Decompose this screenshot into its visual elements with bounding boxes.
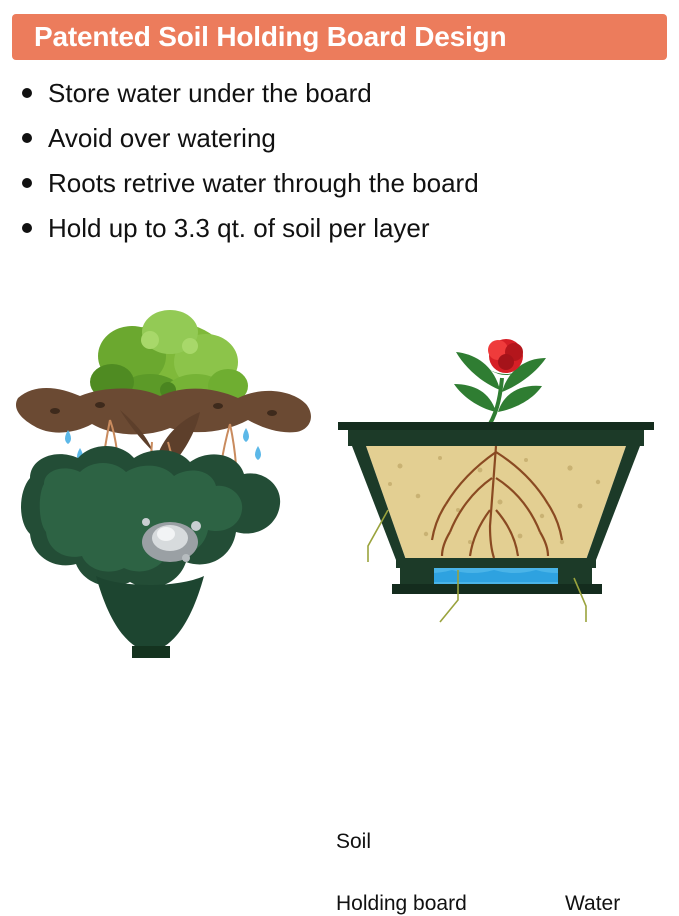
page-title: Patented Soil Holding Board Design — [12, 21, 506, 53]
label-water: Water — [565, 892, 620, 916]
pot-cross-section-diagram — [330, 270, 660, 660]
stacked-planter-photo — [0, 270, 340, 660]
list-item-label: Avoid over watering — [48, 117, 276, 159]
rose-plant-icon — [454, 339, 546, 430]
bullet-dot-icon — [22, 223, 32, 233]
list-item: Store water under the board — [22, 72, 662, 114]
list-item-label: Roots retrive water through the board — [48, 162, 479, 204]
list-item-label: Store water under the board — [48, 72, 372, 114]
list-item: Roots retrive water through the board — [22, 162, 662, 204]
feature-list: Store water under the board Avoid over w… — [22, 72, 662, 252]
list-item-label: Hold up to 3.3 qt. of soil per layer — [48, 207, 430, 249]
list-item: Avoid over watering — [22, 117, 662, 159]
bullet-dot-icon — [22, 88, 32, 98]
label-soil: Soil — [336, 830, 371, 854]
bullet-dot-icon — [22, 178, 32, 188]
list-item: Hold up to 3.3 qt. of soil per layer — [22, 207, 662, 249]
bullet-dot-icon — [22, 133, 32, 143]
header-banner: Patented Soil Holding Board Design — [12, 14, 667, 60]
illustration-area: Soil Holding board Water — [0, 270, 679, 660]
label-holding-board: Holding board — [336, 892, 467, 916]
